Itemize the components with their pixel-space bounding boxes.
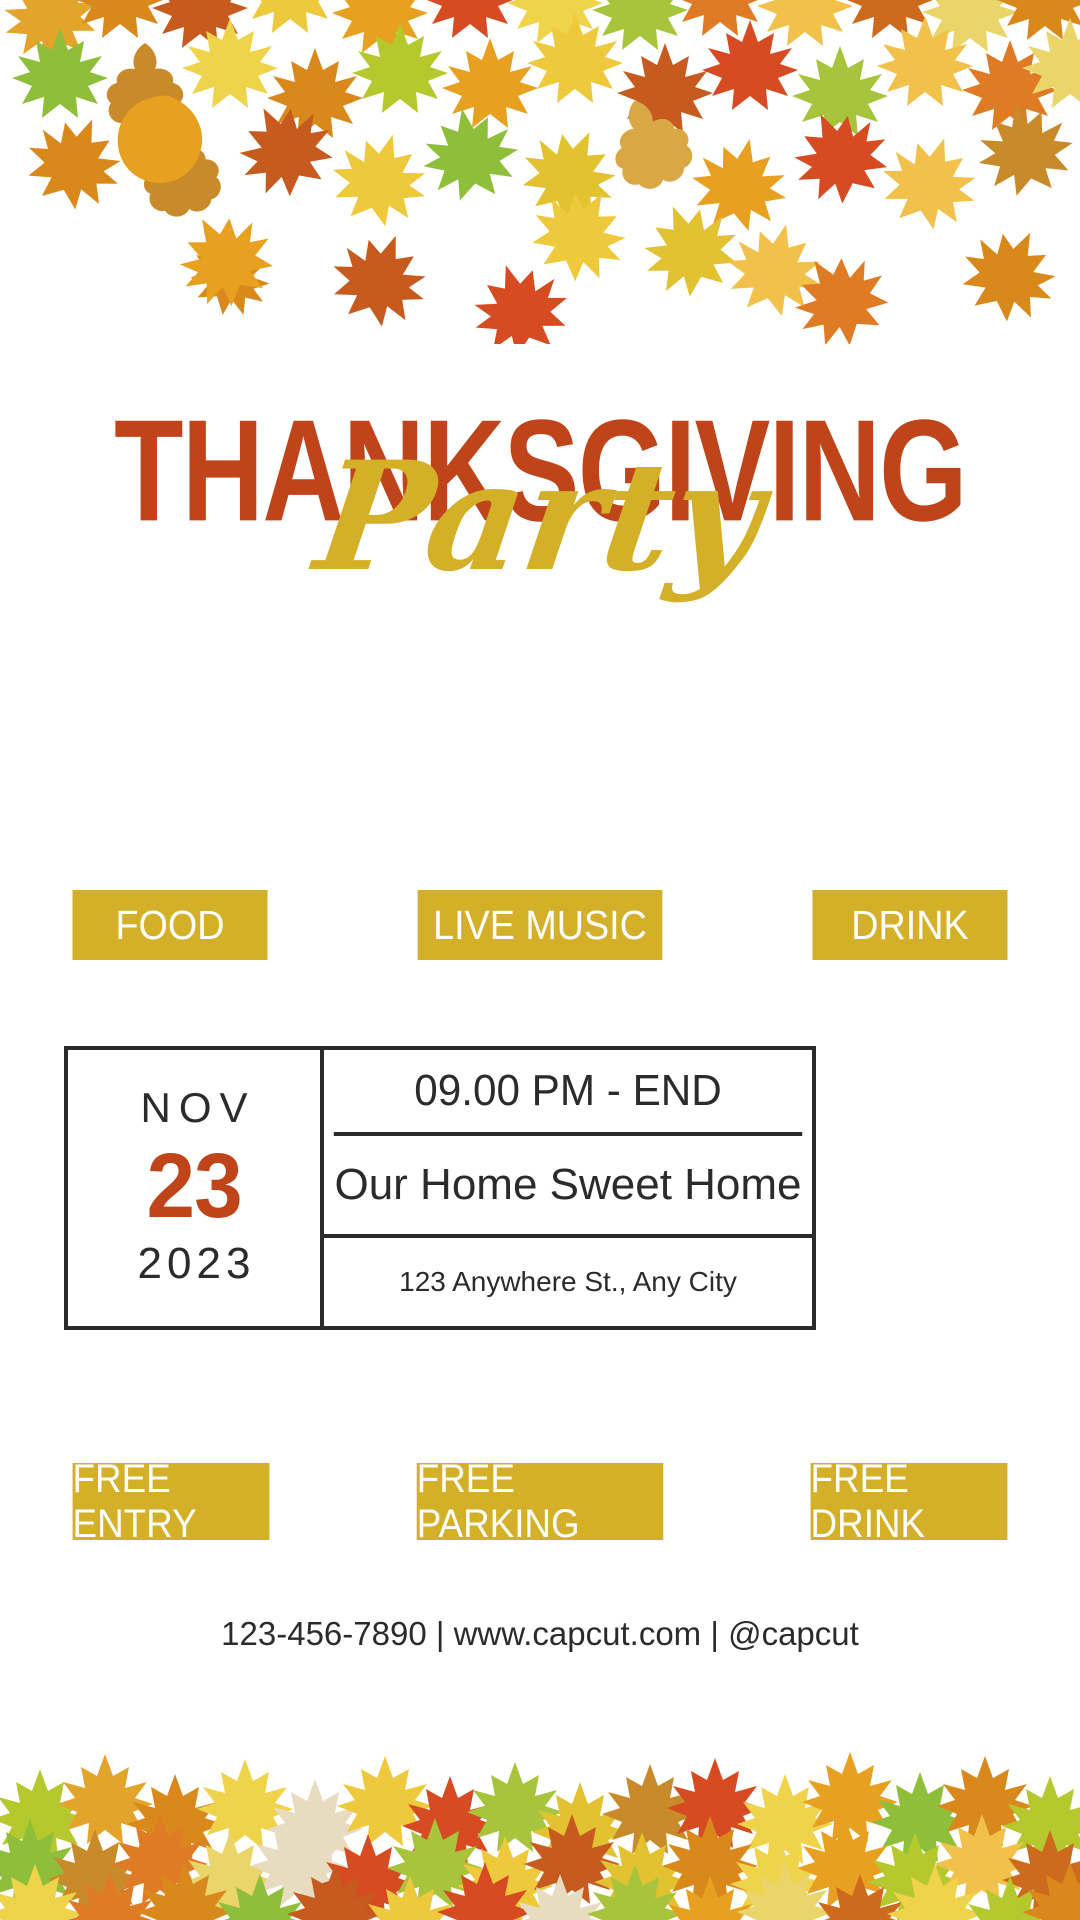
date-month: NOV xyxy=(132,1082,255,1134)
falling-autumn-leaves-decoration xyxy=(0,0,1080,344)
event-address: 123 Anywhere St., Any City xyxy=(324,1238,812,1326)
date-year: 2023 xyxy=(133,1238,256,1290)
top-leaves-svg xyxy=(0,0,1080,344)
badge-free-drink[interactable]: FREE DRINK xyxy=(811,1463,1008,1540)
bottom-leaves-svg xyxy=(0,1740,1080,1920)
event-details-box: NOV 23 2023 09.00 PM - END Our Home Swee… xyxy=(64,1046,816,1330)
badge-food[interactable]: FOOD xyxy=(72,890,267,960)
event-date-column: NOV 23 2023 xyxy=(68,1050,324,1326)
thanksgiving-party-poster: THANKSGIVING Party FOOD LIVE MUSIC DRINK… xyxy=(0,0,1080,1920)
date-day: 23 xyxy=(146,1138,241,1234)
event-venue: Our Home Sweet Home xyxy=(324,1136,812,1238)
event-time: 09.00 PM - END xyxy=(334,1050,802,1136)
autumn-leaf-border-decoration xyxy=(0,1740,1080,1920)
poster-title-block: THANKSGIVING Party xyxy=(0,400,1080,660)
badge-free-parking[interactable]: FREE PARKING xyxy=(417,1463,664,1540)
title-party-script: Party xyxy=(0,442,1080,592)
badge-live-music[interactable]: LIVE MUSIC xyxy=(418,890,663,960)
contact-line: 123-456-7890 | www.capcut.com | @capcut xyxy=(0,1615,1080,1653)
badge-drink[interactable]: DRINK xyxy=(812,890,1007,960)
event-info-column: 09.00 PM - END Our Home Sweet Home 123 A… xyxy=(324,1050,812,1326)
feature-badge-row: FOOD LIVE MUSIC DRINK xyxy=(64,890,1016,960)
badge-free-entry[interactable]: FREE ENTRY xyxy=(73,1463,270,1540)
free-perks-badge-row: FREE ENTRY FREE PARKING FREE DRINK xyxy=(64,1463,1016,1540)
